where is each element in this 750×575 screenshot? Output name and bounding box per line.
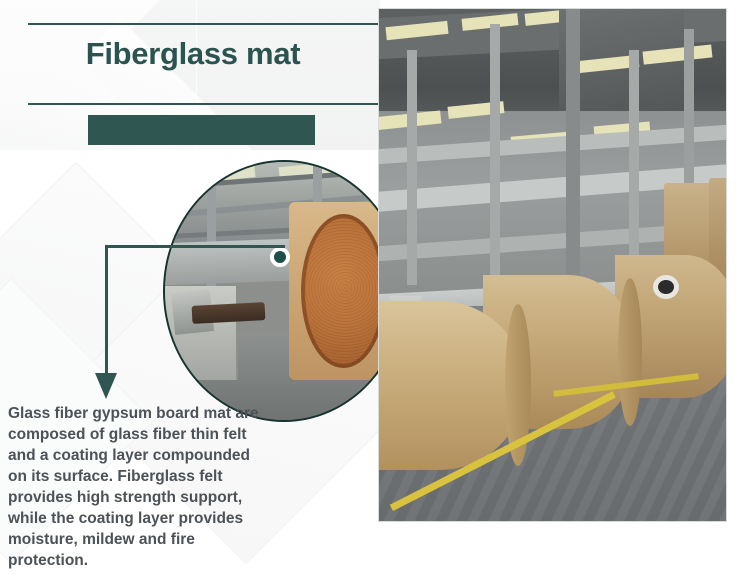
photo-column-4 [629,50,639,286]
slide-canvas: Fiberglass mat [0,0,750,575]
description-paragraph: Glass fiber gypsum board mat are compose… [8,403,270,571]
title-rule-bottom [28,103,380,105]
warehouse-photo [378,8,727,522]
arrow-head-icon [95,373,117,399]
title-rule-top [28,23,380,25]
page-title: Fiberglass mat [28,38,358,69]
connector-horizontal-segment [105,245,285,248]
callout-roll-face [301,214,385,367]
callout-connector-arrow [95,245,285,405]
photo-column-3 [566,9,580,296]
subtitle-bar [88,115,315,145]
photo-column-1 [407,50,417,286]
photo-column-2 [490,24,500,280]
connector-vertical-segment [105,245,108,376]
